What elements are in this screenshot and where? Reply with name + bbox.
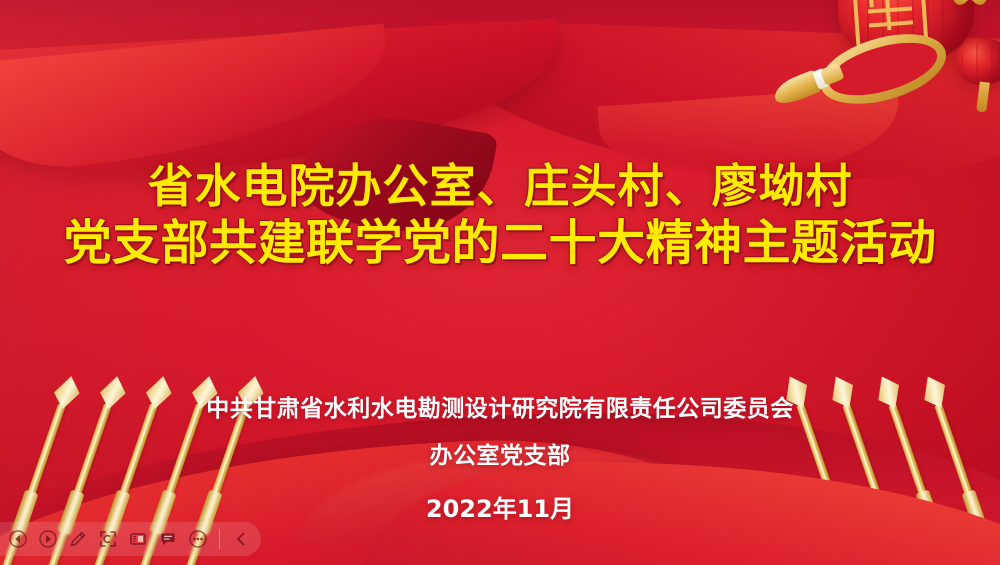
lantern-small-tassel [976,82,990,113]
triangle-left-icon [9,530,27,548]
lantern-small-ribs [961,41,1000,82]
pen-icon [69,530,87,548]
slide-title: 省水电院办公室、庄头村、廖坳村 党支部共建联学党的二十大精神主题活动 [0,158,1000,272]
organization-block: 中共甘肃省水利水电勘测设计研究院有限责任公司委员会 办公室党支部 [0,386,1000,480]
presenter-view-button[interactable] [124,525,152,553]
organization-line-2: 办公室党支部 [0,433,1000,480]
gold-peony-icon [926,0,1000,8]
pen-tool-button[interactable] [64,525,92,553]
title-line-1: 省水电院办公室、庄头村、廖坳村 [0,158,1000,215]
collapse-toolbar-button[interactable] [227,525,255,553]
presentation-toolbar [0,522,261,556]
toolbar-divider [219,529,220,549]
speech-bubble-icon [159,530,177,548]
ellipsis-circle-icon [189,530,207,548]
previous-slide-button[interactable] [4,525,32,553]
lantern-small-icon [956,38,1000,85]
organization-line-1: 中共甘肃省水利水电勘测设计研究院有限责任公司委员会 [0,386,1000,433]
presentation-slide: 省水电院办公室、庄头村、廖坳村 党支部共建联学党的二十大精神主题活动 中共甘肃省… [0,0,1000,565]
lantern-decoration-group [800,0,1000,132]
triangle-right-icon [39,530,57,548]
more-options-button[interactable] [184,525,212,553]
slide-date: 2022年11月 [0,489,1000,524]
comment-button[interactable] [154,525,182,553]
focus-highlight-button[interactable] [94,525,122,553]
title-line-2: 党支部共建联学党的二十大精神主题活动 [0,215,1000,272]
crop-frame-icon [99,530,117,548]
presentation-screen-icon [129,530,147,548]
next-slide-button[interactable] [34,525,62,553]
chevron-left-icon [232,530,250,548]
